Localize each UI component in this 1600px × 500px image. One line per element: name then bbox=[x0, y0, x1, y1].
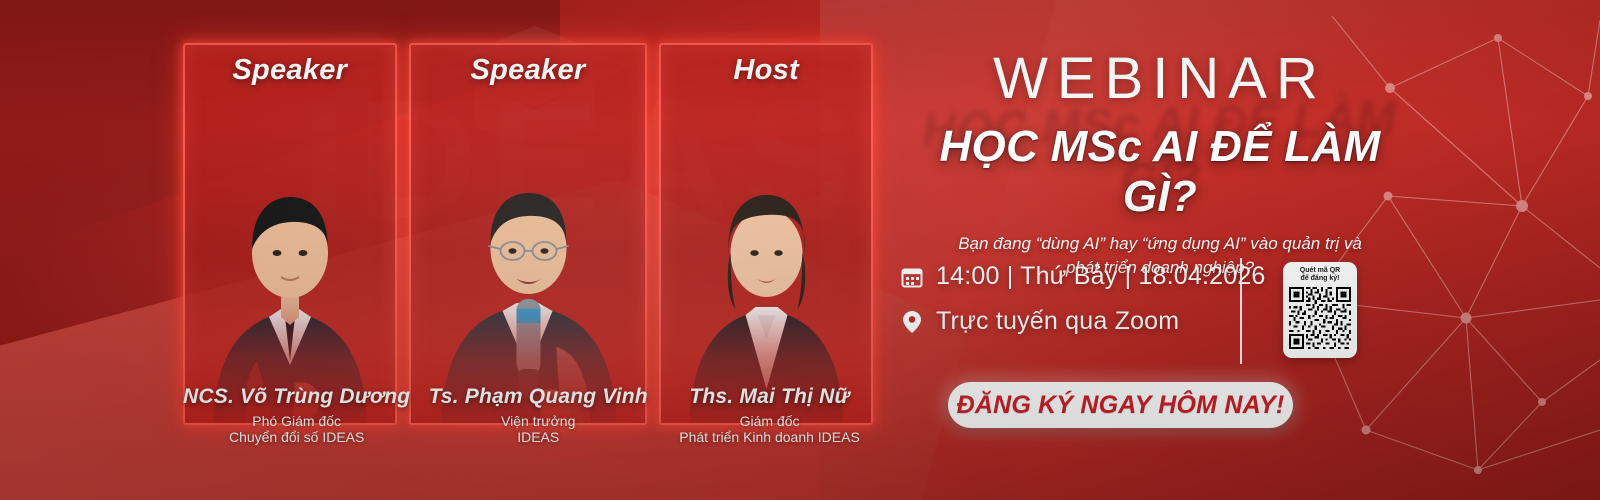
speaker-name-2: Ts. Phạm Quang Vinh bbox=[422, 385, 654, 409]
event-datetime: 14:00 | Thứ Bảy | 18.04.2026 bbox=[936, 262, 1266, 291]
host-title-3a: Giám đốc bbox=[666, 413, 873, 429]
calendar-icon bbox=[900, 265, 924, 289]
event-location: Trực tuyến qua Zoom bbox=[936, 307, 1179, 336]
host-title-3b: Phát triển Kinh doanh IDEAS bbox=[666, 429, 873, 445]
host-name-3: Ths. Mai Thị Nữ bbox=[666, 385, 873, 409]
register-cta-label: ĐĂNG KÝ NGAY HÔM NAY! bbox=[957, 391, 1285, 420]
event-location-row: Trực tuyến qua Zoom bbox=[900, 307, 1230, 336]
speaker-card-2[interactable]: Speaker bbox=[409, 43, 648, 425]
event-subhead-line1: Bạn đang “dùng AI” hay “ứng dụng AI” vào… bbox=[900, 232, 1420, 256]
speaker-name-block-2: Ts. Phạm Quang Vinh Viện trưởng IDEAS bbox=[422, 385, 654, 460]
speaker-names-row: NCS. Võ Trùng Dương Phó Giám đốc Chuyển … bbox=[183, 385, 873, 460]
qr-card[interactable]: Quét mã QR để đăng ký! bbox=[1283, 262, 1357, 358]
speaker-role-1: Speaker bbox=[185, 54, 395, 87]
qr-caption-line2: để đăng ký! bbox=[1289, 275, 1351, 283]
host-card-3[interactable]: Host bbox=[659, 43, 873, 425]
speaker-card-1[interactable]: Speaker bbox=[183, 43, 397, 425]
speaker-title-2a: Viện trưởng bbox=[422, 413, 654, 429]
speaker-cards: Speaker Speaker bbox=[183, 43, 873, 425]
speaker-title-1a: Phó Giám đốc bbox=[183, 413, 410, 429]
webinar-banner: IDEAS Speaker bbox=[0, 0, 1600, 500]
event-copy: WEBINAR HỌC MSc AI ĐỂ LÀM GÌ? HỌC MSc AI… bbox=[900, 48, 1420, 280]
speaker-title-1b: Chuyển đổi số IDEAS bbox=[183, 429, 410, 445]
vertical-divider bbox=[1240, 258, 1242, 364]
qr-code[interactable] bbox=[1289, 287, 1351, 349]
event-details: 14:00 | Thứ Bảy | 18.04.2026 Trực tuyến … bbox=[900, 262, 1230, 352]
host-role-3: Host bbox=[661, 54, 871, 87]
host-name-block-3: Ths. Mai Thị Nữ Giám đốc Phát triển Kinh… bbox=[666, 385, 873, 460]
event-headline-wrap: HỌC MSc AI ĐỂ LÀM GÌ? HỌC MSc AI ĐỂ LÀM … bbox=[900, 122, 1420, 222]
speaker-name-block-1: NCS. Võ Trùng Dương Phó Giám đốc Chuyển … bbox=[183, 385, 410, 460]
event-datetime-row: 14:00 | Thứ Bảy | 18.04.2026 bbox=[900, 262, 1230, 291]
event-headline: HỌC MSc AI ĐỂ LÀM GÌ? bbox=[900, 122, 1420, 222]
qr-caption: Quét mã QR để đăng ký! bbox=[1289, 267, 1351, 284]
speaker-name-1: NCS. Võ Trùng Dương bbox=[183, 385, 410, 409]
speaker-title-2b: IDEAS bbox=[422, 429, 654, 445]
speaker-role-2: Speaker bbox=[411, 54, 646, 87]
map-pin-icon bbox=[900, 310, 924, 334]
register-cta-button[interactable]: ĐĂNG KÝ NGAY HÔM NAY! bbox=[948, 382, 1293, 428]
